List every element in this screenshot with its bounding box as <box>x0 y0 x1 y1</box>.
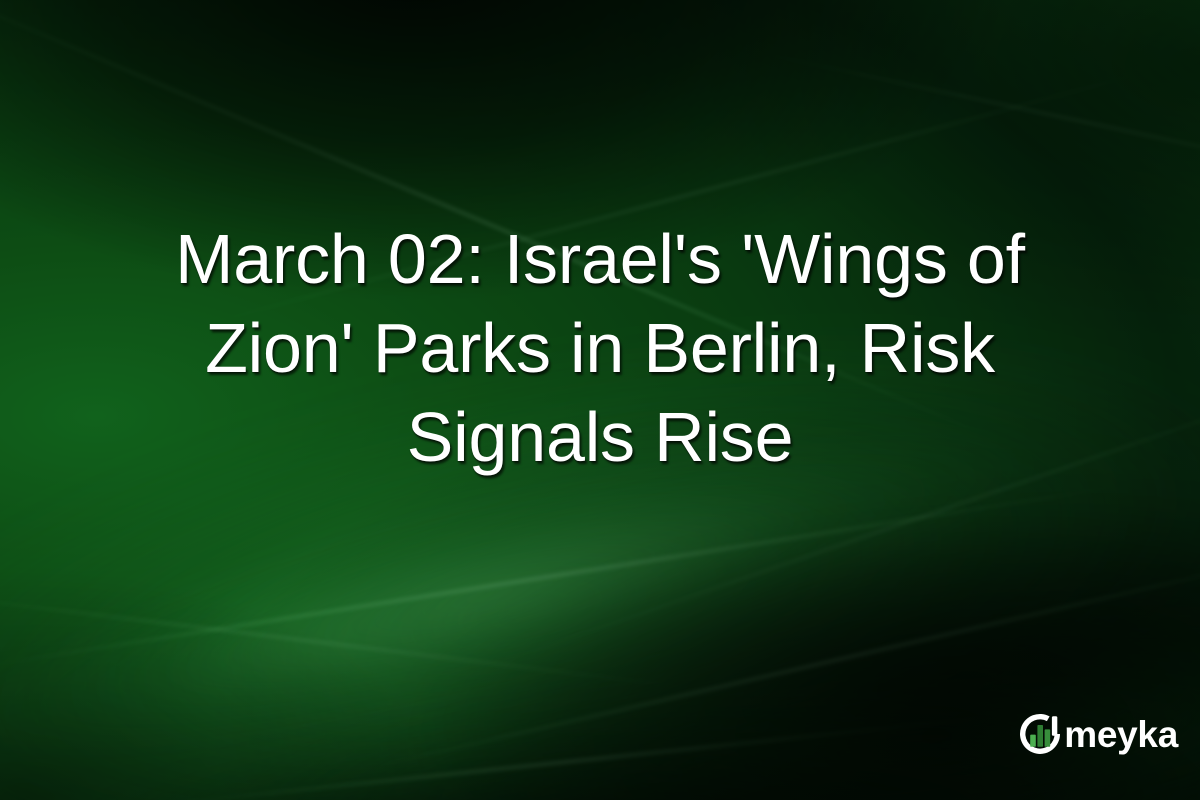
news-share-card: March 02: Israel's 'Wings of Zion' Parks… <box>0 0 1200 800</box>
page-title: March 02: Israel's 'Wings of Zion' Parks… <box>60 215 1140 482</box>
background-streak-3 <box>0 480 1153 674</box>
meyka-bar-chart-ring-icon <box>1016 710 1064 758</box>
background-streak-8 <box>122 713 1017 800</box>
brand-wordmark: meyka <box>1064 716 1178 753</box>
brand-logo: meyka <box>1016 710 1178 758</box>
background-streak-5 <box>0 588 737 695</box>
background-streak-7 <box>708 41 1200 201</box>
